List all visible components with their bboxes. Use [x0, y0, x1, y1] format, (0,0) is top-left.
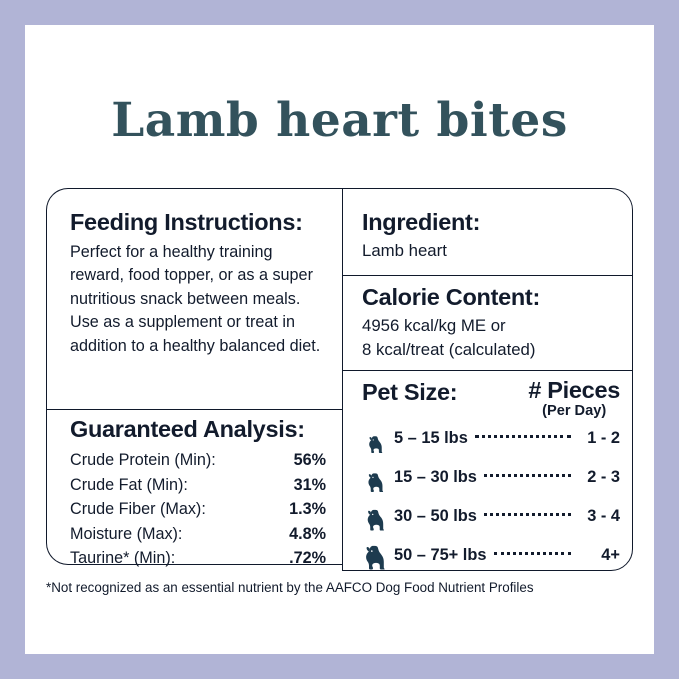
pieces-header-group: # Pieces (Per Day) — [528, 378, 624, 419]
pet-size-label: 50 – 75+ lbs — [388, 546, 487, 565]
right-panel-divider-2 — [342, 370, 633, 371]
pet-size-row: 15 – 30 lbs 2 - 3 — [362, 458, 624, 497]
analysis-value: 4.8% — [289, 522, 326, 547]
analysis-value: 31% — [294, 473, 326, 498]
pieces-heading: # Pieces — [528, 378, 620, 403]
analysis-row: Taurine* (Min): .72% — [70, 546, 326, 571]
right-panel-divider-1 — [342, 275, 633, 276]
pet-size-heading: Pet Size: — [362, 378, 457, 406]
pet-size-label: 5 – 15 lbs — [388, 429, 468, 448]
ingredient-section: Ingredient: Lamb heart — [362, 208, 617, 263]
ingredient-heading: Ingredient: — [362, 208, 617, 236]
feeding-instructions-section: Feeding Instructions: Perfect for a heal… — [70, 208, 328, 358]
calorie-line-1: 4956 kcal/kg ME or — [362, 314, 617, 338]
pet-size-section: Pet Size: # Pieces (Per Day) 5 – 15 lbs … — [362, 378, 624, 575]
analysis-row: Crude Fat (Min): 31% — [70, 473, 326, 498]
dot-leader — [484, 513, 571, 516]
calorie-content-section: Calorie Content: 4956 kcal/kg ME or 8 kc… — [362, 283, 617, 362]
guaranteed-analysis-heading: Guaranteed Analysis: — [70, 415, 326, 443]
footnote: *Not recognized as an essential nutrient… — [46, 579, 636, 597]
analysis-label: Taurine* (Min): — [70, 546, 175, 571]
analysis-row: Crude Fiber (Max): 1.3% — [70, 497, 326, 522]
dot-leader — [475, 435, 571, 438]
analysis-row: Crude Protein (Min): 56% — [70, 448, 326, 473]
analysis-label: Moisture (Max): — [70, 522, 182, 547]
analysis-label: Crude Fiber (Max): — [70, 497, 206, 522]
analysis-label: Crude Protein (Min): — [70, 448, 216, 473]
pet-size-label: 15 – 30 lbs — [388, 468, 477, 487]
analysis-label: Crude Fat (Min): — [70, 473, 188, 498]
pet-size-row: 5 – 15 lbs 1 - 2 — [362, 419, 624, 458]
pet-size-header-row: Pet Size: # Pieces (Per Day) — [362, 378, 624, 419]
dog-icon — [362, 424, 388, 454]
feeding-instructions-body: Perfect for a healthy training reward, f… — [70, 241, 328, 358]
ingredient-value: Lamb heart — [362, 239, 617, 263]
pet-size-pieces: 3 - 4 — [578, 507, 624, 526]
dog-icon — [362, 541, 388, 571]
dot-leader — [484, 474, 571, 477]
pet-size-pieces: 2 - 3 — [578, 468, 624, 487]
dog-icon — [362, 502, 388, 532]
label-card: Lamb heart bites Feeding Instructions: P… — [25, 25, 654, 654]
pet-size-label: 30 – 50 lbs — [388, 507, 477, 526]
calorie-line-2: 8 kcal/treat (calculated) — [362, 338, 617, 362]
dot-leader — [494, 552, 572, 555]
dog-icon — [362, 463, 388, 493]
feeding-instructions-heading: Feeding Instructions: — [70, 208, 328, 236]
analysis-value: 1.3% — [289, 497, 326, 522]
guaranteed-analysis-section: Guaranteed Analysis: Crude Protein (Min)… — [70, 415, 326, 571]
analysis-row: Moisture (Max): 4.8% — [70, 522, 326, 547]
pet-size-pieces: 1 - 2 — [578, 429, 624, 448]
page-title: Lamb heart bites — [25, 93, 654, 148]
left-panel-divider — [46, 409, 343, 410]
analysis-value: 56% — [294, 448, 326, 473]
pieces-subheading: (Per Day) — [528, 403, 620, 419]
analysis-value: .72% — [289, 546, 326, 571]
pet-size-row: 30 – 50 lbs 3 - 4 — [362, 497, 624, 536]
calorie-content-heading: Calorie Content: — [362, 283, 617, 311]
pet-size-row: 50 – 75+ lbs 4+ — [362, 536, 624, 575]
pet-size-pieces: 4+ — [578, 546, 624, 565]
